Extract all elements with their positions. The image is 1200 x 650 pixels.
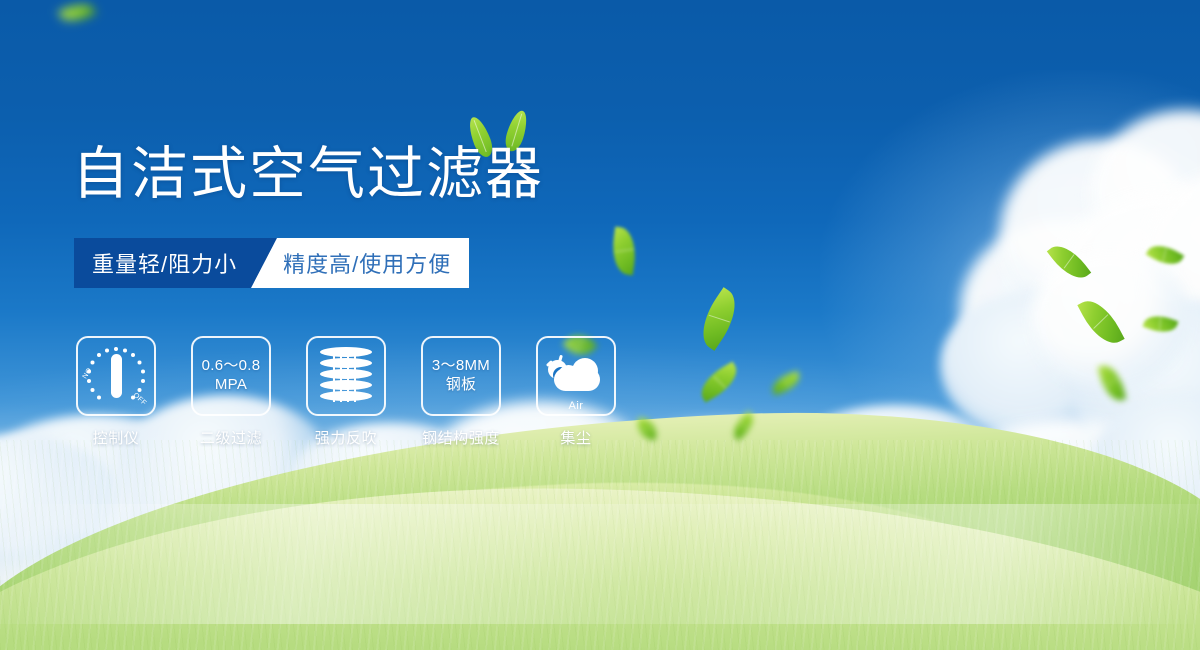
leaf-decoration [1146, 239, 1184, 272]
feature-label: 控制仪 [76, 427, 156, 448]
feature-label: 强力反吹 [306, 427, 386, 448]
feature-label: 集尘 [536, 427, 616, 448]
hill-mid [0, 453, 1065, 650]
air-label: Air [546, 400, 606, 412]
product-banner: 自洁式空气过滤器 重量轻/阻力小 精度高/使用方便 [0, 0, 1200, 650]
feature-label: 钢结构强度 [421, 427, 501, 448]
leaf-decoration [1143, 311, 1179, 338]
leaf-decoration [58, 0, 96, 27]
leaf-decoration [634, 417, 660, 441]
page-title: 自洁式空气过滤器 [72, 146, 544, 203]
leaf-decoration [1047, 238, 1091, 286]
leaf-decoration [1077, 293, 1124, 351]
steel-value-line2: 钢板 [446, 376, 477, 395]
feature-item[interactable]: NO OFF 控制仪 [76, 336, 156, 448]
leaf-decoration [769, 371, 802, 395]
feature-item[interactable]: Air 集尘 [536, 336, 616, 448]
feature-label: 二级过滤 [191, 427, 271, 448]
pressure-icon[interactable]: 0.6～0.8 MPA [191, 336, 271, 416]
sun-glow [820, 70, 1200, 490]
cloud-air-icon[interactable]: Air [536, 336, 616, 416]
feature-item[interactable]: 0.6～0.8 MPA 二级过滤 [191, 336, 271, 448]
feature-list: NO OFF 控制仪 0.6～0.8 MPA 二级过滤 [76, 336, 616, 448]
leaf-decoration [694, 361, 743, 402]
grass-texture [0, 440, 1200, 650]
steel-plate-icon[interactable]: 3～8MM 钢板 [421, 336, 501, 416]
gauge-icon[interactable]: NO OFF [76, 336, 156, 416]
subtitle-secondary: 精度高/使用方便 [277, 238, 469, 288]
feature-item[interactable]: 强力反吹 [306, 336, 386, 448]
grass-sheen [0, 504, 1200, 624]
pressure-value-line2: MPA [215, 376, 247, 395]
leaf-decoration [1098, 362, 1127, 404]
feature-item[interactable]: 3～8MM 钢板 钢结构强度 [421, 336, 501, 448]
gauge-no-label: NO [82, 367, 94, 380]
steel-value-line1: 3～8MM [432, 357, 490, 376]
hill-near [0, 475, 1200, 650]
cloud-cluster-right [940, 100, 1200, 430]
gauge-off-label: OFF [131, 392, 147, 407]
subtitle-primary: 重量轻/阻力小 [74, 238, 251, 288]
pressure-value-line1: 0.6～0.8 [202, 357, 261, 376]
filter-stack-icon[interactable] [306, 336, 386, 416]
leaf-decoration [728, 411, 759, 441]
subtitle-divider [251, 238, 277, 288]
leaf-decoration [609, 227, 639, 276]
leaf-decoration [691, 287, 747, 351]
subtitle-bar: 重量轻/阻力小 精度高/使用方便 [74, 238, 469, 288]
